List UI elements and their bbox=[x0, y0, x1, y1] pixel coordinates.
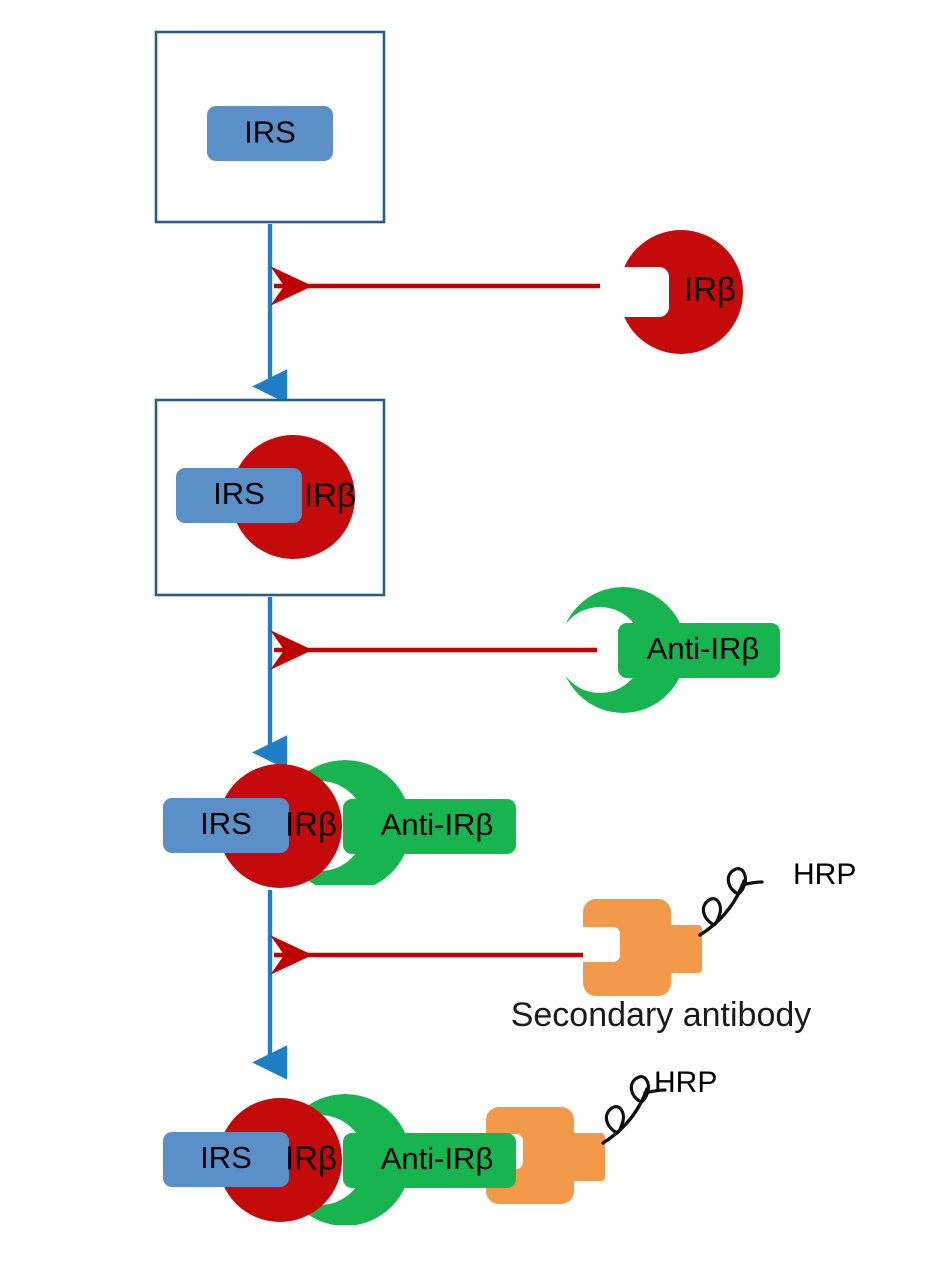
anti-irb-body bbox=[343, 799, 516, 854]
step-3-group: IRS IRβ Anti-IRβ bbox=[163, 760, 516, 892]
irb-reagent-disc bbox=[619, 230, 743, 354]
hrp-label: HRP bbox=[793, 858, 856, 891]
irs-body bbox=[207, 106, 333, 161]
secondary-antibody-reagent-group[interactable]: HRP Secondary antibody bbox=[511, 858, 857, 1034]
anti-irb-body bbox=[618, 623, 780, 678]
irs-body bbox=[163, 798, 289, 853]
irb-reagent-group[interactable]: IRβ bbox=[619, 230, 743, 354]
anti-irb-body bbox=[343, 1133, 516, 1188]
secondary-antibody-body bbox=[583, 899, 671, 996]
hrp-label: HRP bbox=[654, 1066, 717, 1099]
irs-molecule-step-4[interactable]: IRS bbox=[163, 1132, 289, 1187]
diagram-root: IRS IRβ IRβ IRS bbox=[0, 0, 934, 1272]
step-1-group: IRS bbox=[156, 32, 384, 222]
step-2-group: IRβ IRS bbox=[156, 400, 384, 595]
irs-body bbox=[163, 1132, 289, 1187]
hrp-tag-group-step-4: HRP bbox=[603, 1066, 717, 1143]
irs-molecule-step-3[interactable]: IRS bbox=[163, 798, 289, 853]
hrp-leaf-lower bbox=[606, 1107, 623, 1133]
irs-molecule-step-1[interactable]: IRS bbox=[207, 106, 333, 161]
assay-schematic-canvas: IRS IRβ IRβ IRS bbox=[0, 0, 934, 1272]
irs-body bbox=[176, 468, 302, 523]
step-4-group: IRS IRβ Anti-IRβ HRP bbox=[163, 1066, 717, 1226]
irs-molecule-step-2[interactable]: IRS bbox=[176, 468, 302, 523]
hrp-tag-group: HRP bbox=[700, 858, 856, 935]
hrp-leaf-lower bbox=[703, 899, 720, 925]
secondary-antibody-caption: Secondary antibody bbox=[511, 996, 812, 1034]
